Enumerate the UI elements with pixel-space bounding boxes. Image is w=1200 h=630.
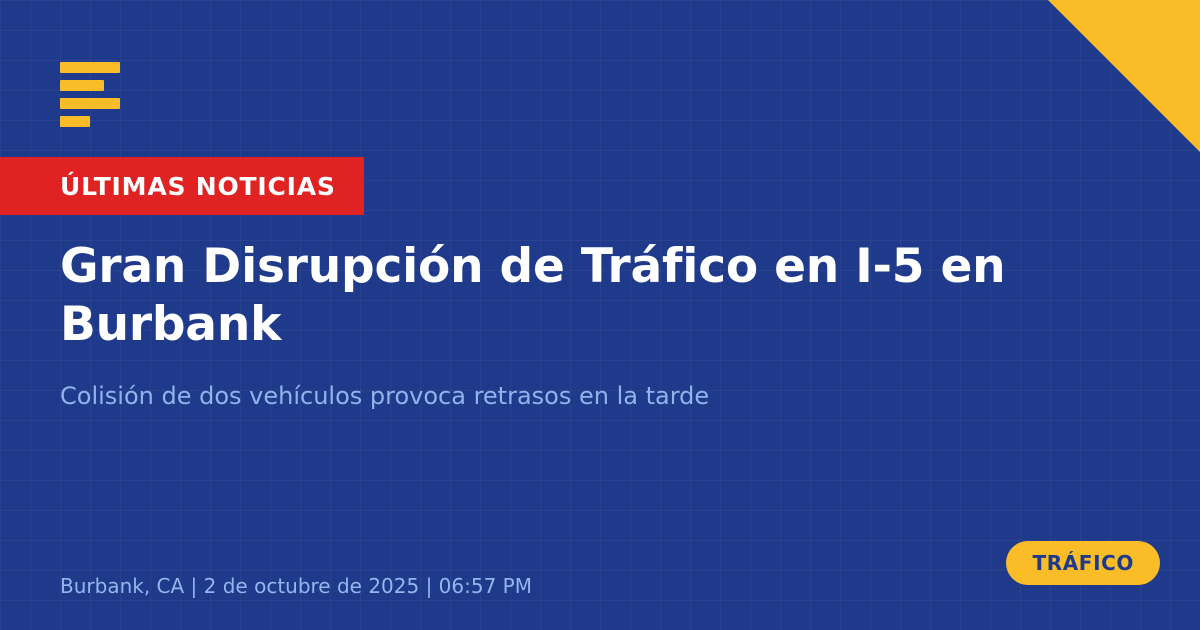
page-title: Gran Disrupción de Tráfico en I-5 en Bur…	[60, 238, 1100, 355]
logo-bar-1	[60, 62, 120, 73]
footer-meta-text: Burbank, CA | 2 de octubre de 2025 | 06:…	[60, 574, 532, 598]
headline-block: Gran Disrupción de Tráfico en I-5 en Bur…	[60, 238, 1100, 412]
category-badge-label: TRÁFICO	[1032, 553, 1134, 573]
breaking-news-badge: ÚLTIMAS NOTICIAS	[0, 157, 364, 215]
logo-bar-2	[60, 80, 104, 91]
logo-bar-4	[60, 116, 90, 127]
headline-subtitle: Colisión de dos vehículos provoca retras…	[60, 381, 1100, 412]
breaking-news-badge-label: ÚLTIMAS NOTICIAS	[60, 174, 336, 199]
breaking-news-card: ÚLTIMAS NOTICIAS Gran Disrupción de Tráf…	[0, 0, 1200, 630]
category-badge: TRÁFICO	[1006, 541, 1160, 585]
logo-bar-3	[60, 98, 120, 109]
corner-accent-triangle	[1048, 0, 1200, 152]
news-logo	[60, 62, 120, 127]
